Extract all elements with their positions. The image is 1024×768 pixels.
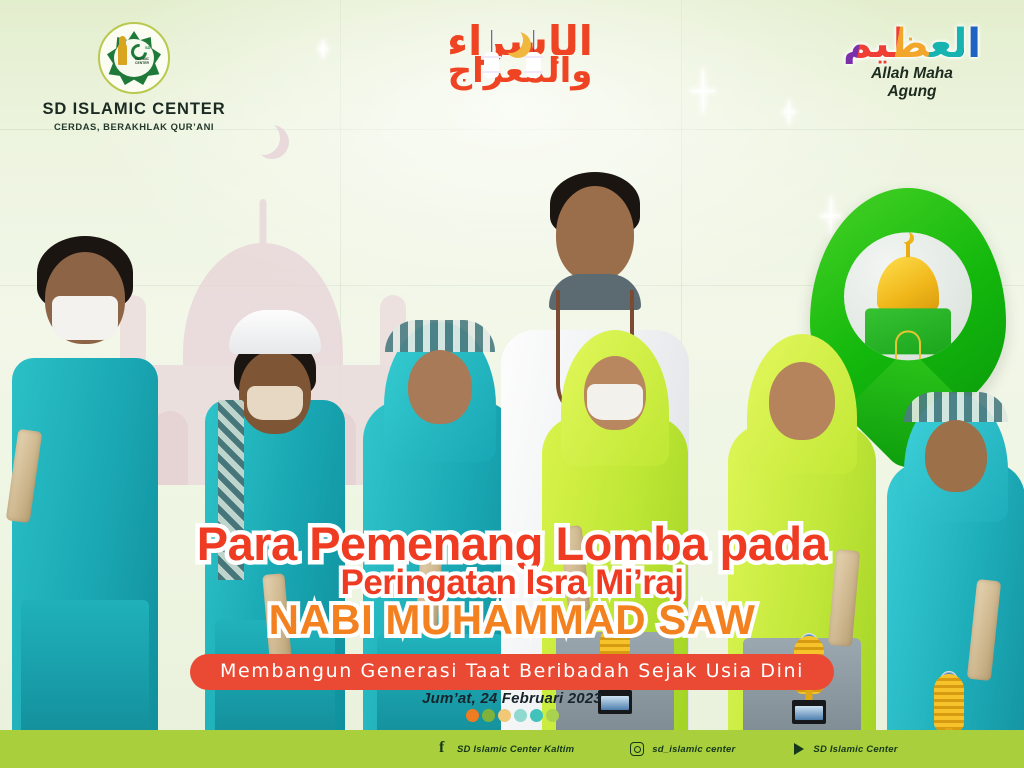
social-instagram[interactable]: sd_islamic center — [630, 742, 735, 756]
school-tagline: CERDAS, BERAKHLAK QUR’ANI — [28, 121, 240, 132]
social-facebook[interactable]: SD Islamic Center Kaltim — [435, 742, 574, 756]
decorative-dot — [466, 709, 479, 722]
youtube-icon — [791, 742, 805, 756]
decorative-dot — [498, 709, 511, 722]
crescent-moon-icon — [497, 27, 523, 53]
headline-block: Para Pemenang Lomba pada Peringatan Isra… — [0, 520, 1024, 641]
azhim-translation-line-2: Agung — [822, 84, 1002, 100]
instagram-handle: sd_islamic center — [652, 744, 735, 755]
headline-line-3: NABI MUHAMMAD SAW — [0, 599, 1024, 641]
event-date: Jum’at, 24 Februari 2023 — [0, 690, 1024, 707]
headline-line-1: Para Pemenang Lomba pada — [0, 520, 1024, 567]
peci-cap — [229, 310, 321, 354]
islamic-center-star-logo: SD ISLAMIC CENTER — [98, 22, 170, 94]
headline-line-2: Peringatan Isra Mi’raj — [0, 565, 1024, 600]
social-youtube[interactable]: SD Islamic Center — [791, 742, 897, 756]
azhim-arabic: العظيم — [822, 24, 1002, 64]
lantern-icon — [484, 52, 499, 78]
instagram-icon — [630, 742, 644, 756]
azhim-translation-line-1: Allah Maha — [822, 66, 1002, 82]
arabic-calligraphy-al-azhim: العظيم Allah Maha Agung — [822, 24, 1002, 101]
youtube-handle: SD Islamic Center — [813, 744, 897, 755]
decorative-dot — [546, 709, 559, 722]
decorative-dot — [482, 709, 495, 722]
facebook-handle: SD Islamic Center Kaltim — [457, 744, 574, 755]
decorative-dot — [514, 709, 527, 722]
calligraphy-line-2: والمعراج — [430, 57, 610, 86]
tagline-block: Membangun Generasi Taat Beribadah Sejak … — [0, 654, 1024, 690]
school-name: SD ISLAMIC CENTER — [28, 100, 240, 119]
poster-canvas: SD ISLAMIC CENTER SD ISLAMIC CENTER CERD… — [0, 0, 1024, 768]
lantern-icon — [526, 52, 541, 78]
footer-bar: SD Islamic Center Kaltim sd_islamic cent… — [0, 730, 1024, 768]
decorative-dots — [0, 709, 1024, 722]
decorative-dot — [530, 709, 543, 722]
school-brand: SD ISLAMIC CENTER SD ISLAMIC CENTER CERD… — [28, 22, 240, 132]
facebook-icon — [435, 742, 449, 756]
tagline-pill: Membangun Generasi Taat Beribadah Sejak … — [190, 654, 834, 690]
